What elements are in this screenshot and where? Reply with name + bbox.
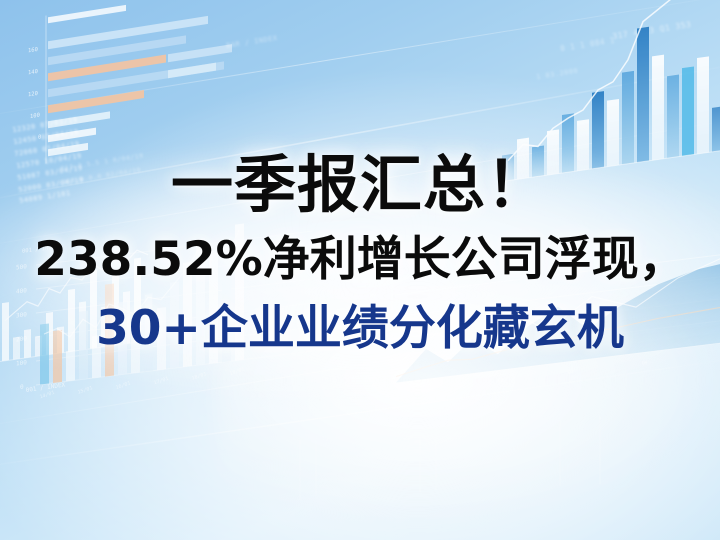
svg-text:18/01: 18/01 — [191, 371, 207, 382]
faux-row: 317 4023 Q1 353 — [612, 20, 692, 41]
headline-block: 一季报汇总！ 238.52%净利增长公司浮现， 30+企业业绩分化藏玄机 — [0, 152, 720, 354]
svg-text:Q3: Q3 — [568, 369, 574, 376]
faux-row: 1 83.2000 — [536, 67, 579, 82]
faux-row: 12450 03/04/19 — [13, 128, 79, 146]
svg-text:14/01: 14/01 — [39, 390, 55, 401]
poster-canvas: 160 140 120 100 0 — [0, 0, 720, 540]
faux-row: 12320 07/03/19 — [12, 116, 78, 134]
faux-row: 0 1 1 084 1 — [560, 36, 616, 54]
svg-text:160: 160 — [28, 47, 38, 55]
svg-text:Q1: Q1 — [428, 386, 434, 393]
svg-text:17/01: 17/01 — [153, 376, 169, 387]
svg-text:15/01: 15/01 — [77, 385, 93, 396]
svg-text:120: 120 — [28, 91, 38, 99]
headline-line-1: 一季报汇总！ — [0, 152, 720, 217]
svg-text:0: 0 — [20, 384, 24, 391]
headline-line-2: 238.52%净利增长公司浮现， — [0, 235, 720, 284]
svg-text:100: 100 — [30, 113, 40, 121]
svg-text:Q4: Q4 — [642, 360, 648, 367]
headline-line-3: 30+企业业绩分化藏玄机 — [0, 304, 720, 353]
svg-text:100: 100 — [16, 359, 27, 367]
svg-text:19/01: 19/01 — [229, 367, 245, 378]
svg-text:0: 0 — [372, 383, 375, 389]
svg-text:20: 20 — [370, 359, 376, 366]
svg-text:140: 140 — [28, 69, 38, 77]
svg-text:16/01: 16/01 — [115, 381, 131, 392]
svg-text:0: 0 — [38, 134, 41, 140]
faux-row: BAR / INDEX — [226, 34, 278, 50]
svg-text:Q2: Q2 — [498, 377, 504, 384]
faux-axis-label: 001 / INDEX — [25, 381, 66, 394]
